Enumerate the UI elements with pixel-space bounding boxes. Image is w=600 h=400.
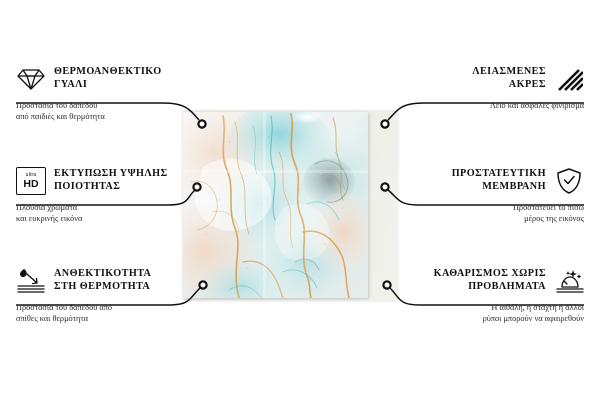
feature-description: Προστατεύει το πίσω μέρος της εικόνας — [402, 203, 584, 224]
feature-heat-durability: ΑΝΘΕΚΤΙΚΟΤΗΤΑ ΣΤΗ ΘΕΡΜΟΤΗΤΑ Προστασία το… — [16, 266, 198, 324]
glass-reflection-vertical — [263, 112, 266, 298]
feature-title: ΛΕΙΑΣΜΕΝΕΣ ΑΚΡΕΣ — [472, 66, 546, 91]
feature-header: ΘΕΡΜΟΑΝΘΕΚΤΙΚΟ ΓΥΑΛΙ — [16, 64, 198, 94]
feature-title: ΠΡΟΣΤΑΤΕΥΤΙΚΗ ΜΕΜΒΡΑΝΗ — [452, 168, 546, 193]
feature-header: ΛΕΙΑΣΜΕΝΕΣ ΑΚΡΕΣ — [402, 64, 584, 94]
feature-description: Προστασία του δαπέδου από παιδιές και θε… — [16, 101, 198, 122]
ultra-hd-big-label: HD — [23, 179, 38, 190]
feature-title: ΑΝΘΕΚΤΙΚΟΤΗΤΑ ΣΤΗ ΘΕΡΜΟΤΗΤΑ — [54, 268, 151, 293]
feature-protective-film: ΠΡΟΣΤΑΤΕΥΤΙΚΗ ΜΕΜΒΡΑΝΗ Προστατεύει το πί… — [402, 166, 584, 224]
feature-high-quality-print: ultra HD ΕΚΤΥΠΩΣΗ ΥΨΗΛΗΣ ΠΟΙΟΤΗΤΑΣ Πλούσ… — [16, 166, 198, 224]
product-image — [183, 110, 398, 300]
feature-description: Η αιθάλη, η στάχτη ή άλλοι ρύποι μπορούν… — [400, 303, 584, 324]
infographic-canvas: ΘΕΡΜΟΑΝΘΕΚΤΙΚΟ ΓΥΑΛΙ Προστασία του δαπέδ… — [0, 0, 600, 400]
feature-header: ΑΝΘΕΚΤΙΚΟΤΗΤΑ ΣΤΗ ΘΕΡΜΟΤΗΤΑ — [16, 266, 198, 296]
feature-heat-resistant-glass: ΘΕΡΜΟΑΝΘΕΚΤΙΚΟ ΓΥΑΛΙ Προστασία του δαπέδ… — [16, 64, 198, 122]
diamond-icon — [16, 64, 46, 94]
feature-title: ΘΕΡΜΟΑΝΘΕΚΤΙΚΟ ΓΥΑΛΙ — [54, 66, 162, 91]
feature-header: ΚΑΘΑΡΙΣΜΟΣ ΧΩΡΙΣ ΠΡΟΒΛΗΜΑΤΑ — [400, 266, 584, 296]
feature-description: Πλούσια χρώματα και ευκρινής εικόνα — [16, 203, 198, 224]
easy-cleaning-icon — [554, 266, 584, 296]
heat-resistance-icon — [16, 266, 46, 296]
feature-header: ultra HD ΕΚΤΥΠΩΣΗ ΥΨΗΛΗΣ ΠΟΙΟΤΗΤΑΣ — [16, 166, 198, 196]
polished-edges-icon — [554, 64, 584, 94]
ultra-hd-icon: ultra HD — [16, 166, 46, 196]
feature-polished-edges: ΛΕΙΑΣΜΕΝΕΣ ΑΚΡΕΣ Λείο και ασφαλές φινίρι… — [402, 64, 584, 112]
product-panel-front — [183, 112, 368, 298]
feature-header: ΠΡΟΣΤΑΤΕΥΤΙΚΗ ΜΕΜΒΡΑΝΗ — [402, 166, 584, 196]
ultra-hd-small-label: ultra — [26, 173, 37, 178]
shield-check-icon — [554, 166, 584, 196]
feature-easy-cleaning: ΚΑΘΑΡΙΣΜΟΣ ΧΩΡΙΣ ΠΡΟΒΛΗΜΑΤΑ Η αιθάλη, η … — [400, 266, 584, 324]
feature-title: ΚΑΘΑΡΙΣΜΟΣ ΧΩΡΙΣ ΠΡΟΒΛΗΜΑΤΑ — [434, 268, 546, 293]
glass-reflection-horizontal — [183, 170, 368, 173]
feature-description: Προστασία του δαπέδου από σπίθες και θερ… — [16, 303, 198, 324]
feature-description: Λείο και ασφαλές φινίρισμα — [402, 101, 584, 112]
feature-title: ΕΚΤΥΠΩΣΗ ΥΨΗΛΗΣ ΠΟΙΟΤΗΤΑΣ — [54, 168, 168, 193]
marble-artwork — [183, 112, 368, 298]
glass-highlight — [289, 110, 325, 124]
